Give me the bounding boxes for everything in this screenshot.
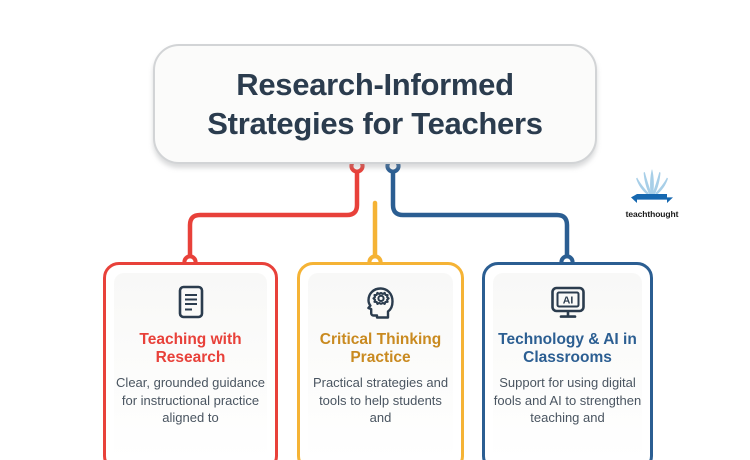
brand-name: teachthought <box>626 209 679 219</box>
card-critical-thinking-practice[interactable]: Critical Thinking Practice Practical str… <box>297 262 464 460</box>
card-title: Technology & AI in Classrooms <box>485 331 650 367</box>
page-title-line-2: Strategies for Teachers <box>207 104 542 143</box>
connector-path-blue <box>393 167 567 261</box>
card-title: Critical Thinking Practice <box>300 331 461 367</box>
infographic-canvas: Research-Informed Strategies for Teacher… <box>0 0 750 460</box>
page-title-card: Research-Informed Strategies for Teacher… <box>153 44 597 164</box>
card-technology-ai-in-classrooms[interactable]: AI Technology & AI in Classrooms Support… <box>482 262 653 460</box>
card-body-text: Support for using digital fools and AI t… <box>485 374 650 426</box>
teachthought-quill-logo-icon <box>623 166 681 208</box>
card-body-text: Practical strategies and tools to help s… <box>300 374 461 426</box>
card-title: Teaching with Research <box>106 331 275 367</box>
card-teaching-with-research[interactable]: Teaching with Research Clear, grounded g… <box>103 262 278 460</box>
svg-text:AI: AI <box>562 295 573 307</box>
card-body-text: Clear, grounded guidance for instruction… <box>106 374 275 426</box>
page-title-line-1: Research-Informed <box>236 65 513 104</box>
connector-path-red <box>190 167 357 261</box>
document-lines-icon <box>169 281 213 325</box>
monitor-ai-icon: AI <box>546 281 590 325</box>
brand-logo: teachthought <box>613 166 691 228</box>
head-gear-brain-icon <box>359 281 403 325</box>
